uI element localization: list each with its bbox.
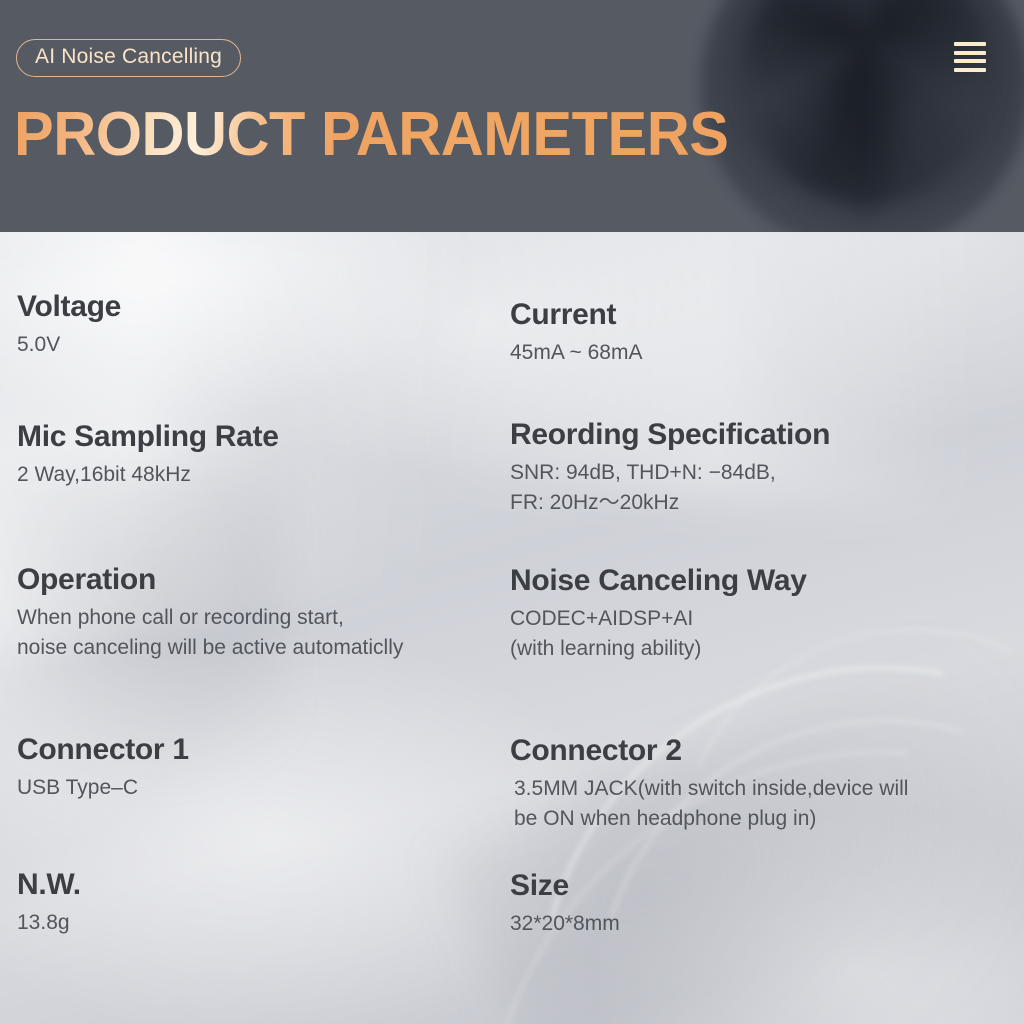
spec-title-current: Current [510,298,643,331]
spec-item-size: Size 32*20*8mm [510,869,620,939]
spec-value-mic-sampling-rate: 2 Way,16bit 48kHz [17,460,279,490]
spec-title-size: Size [510,869,620,902]
spec-item-current: Current 45mA ~ 68mA [510,298,643,368]
spec-item-connector-2: Connector 2 3.5MM JACK(with switch insid… [510,734,908,835]
spec-value-connector-1: USB Type–C [17,773,189,803]
spec-title-noise-canceling-way: Noise Canceling Way [510,564,807,597]
spec-title-net-weight: N.W. [17,868,81,901]
spec-title-connector-1: Connector 1 [17,733,189,766]
spec-list: Voltage 5.0V Mic Sampling Rate 2 Way,16b… [0,0,1024,1024]
product-parameters-page: AI Noise Cancelling PRODUCT PARAMETERS V… [0,0,1024,1024]
spec-value-noise-canceling-way: CODEC+AIDSP+AI (with learning ability) [510,604,807,665]
spec-title-recording-specification: Reording Specification [510,418,830,451]
spec-title-connector-2: Connector 2 [510,734,908,767]
spec-value-connector-2: 3.5MM JACK(with switch inside,device wil… [510,774,908,835]
spec-value-size: 32*20*8mm [510,909,620,939]
spec-item-operation: Operation When phone call or recording s… [17,563,403,664]
spec-title-voltage: Voltage [17,290,121,323]
spec-item-voltage: Voltage 5.0V [17,290,121,360]
spec-value-recording-specification: SNR: 94dB, THD+N: −84dB, FR: 20Hz～20kHz [510,458,830,519]
spec-item-connector-1: Connector 1 USB Type–C [17,733,189,803]
spec-title-mic-sampling-rate: Mic Sampling Rate [17,420,279,453]
spec-item-mic-sampling-rate: Mic Sampling Rate 2 Way,16bit 48kHz [17,420,279,490]
spec-item-noise-canceling-way: Noise Canceling Way CODEC+AIDSP+AI (with… [510,564,807,665]
spec-value-voltage: 5.0V [17,330,121,360]
spec-value-net-weight: 13.8g [17,908,81,938]
spec-value-current: 45mA ~ 68mA [510,338,643,368]
spec-item-recording-specification: Reording Specification SNR: 94dB, THD+N:… [510,418,830,519]
spec-item-net-weight: N.W. 13.8g [17,868,81,938]
spec-title-operation: Operation [17,563,403,596]
spec-value-operation: When phone call or recording start, nois… [17,603,403,664]
